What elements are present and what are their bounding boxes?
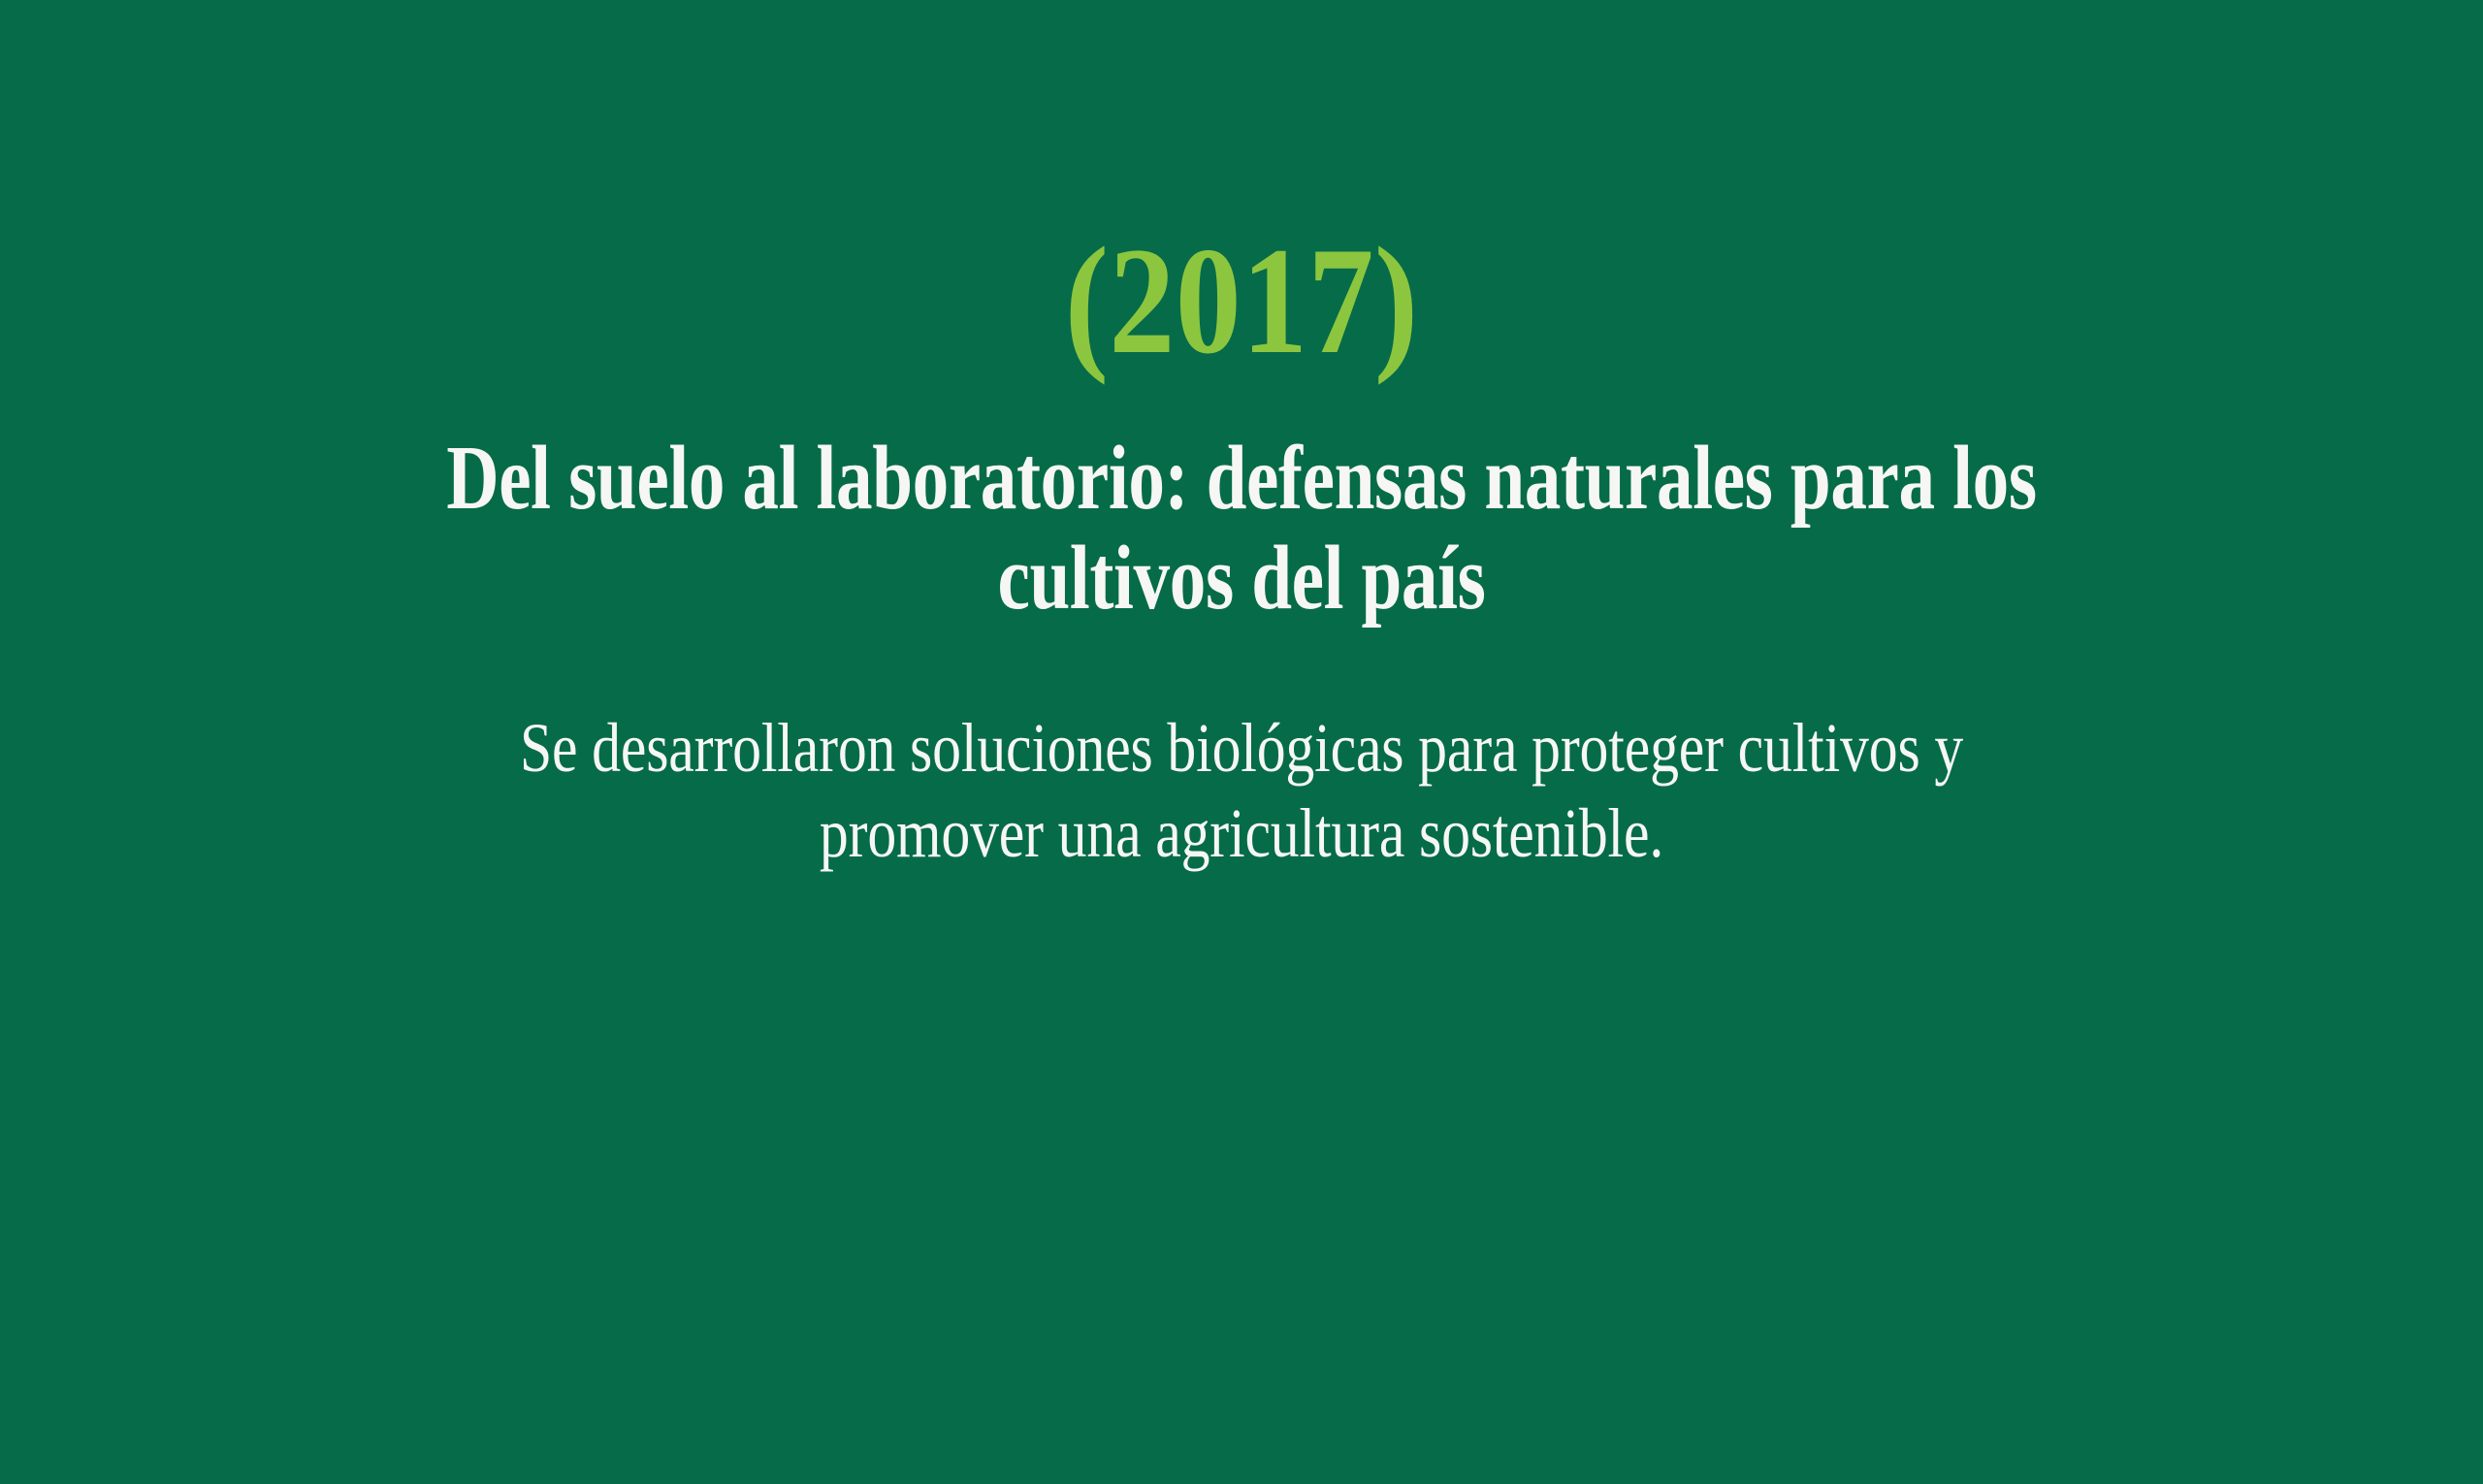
subtitle-container: Se desarrollaron soluciones biológicas p… (272, 705, 2211, 877)
slide-subtitle: Se desarrollaron soluciones biológicas p… (436, 705, 2047, 877)
slide-title: Del suelo al laboratorio: defensas natur… (427, 429, 2056, 629)
timeline-slide: (2017) Del suelo al laboratorio: defensa… (0, 0, 2483, 1484)
year-label: (2017) (1065, 225, 1419, 378)
year-container: (2017) (0, 225, 2483, 378)
title-container: Del suelo al laboratorio: defensas natur… (223, 429, 2260, 629)
